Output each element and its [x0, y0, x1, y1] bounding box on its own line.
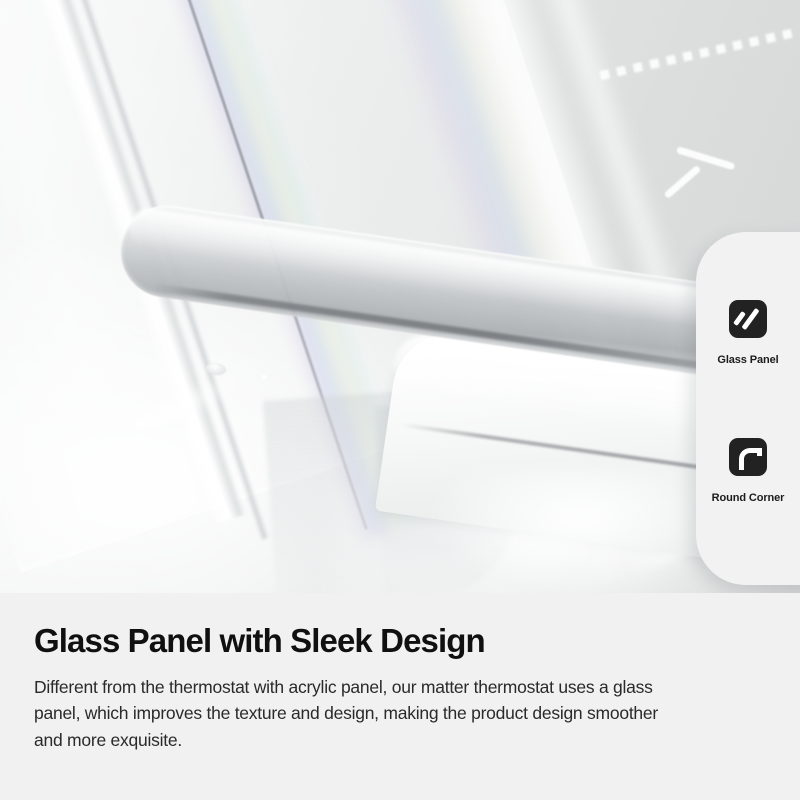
feature-label-glass-panel: Glass Panel: [717, 354, 778, 366]
glass-panel-icon: [729, 300, 767, 338]
feature-card: Glass Panel Round Corner: [696, 232, 800, 585]
product-feature-page: Glass Panel Round Corner Glass Panel wit…: [0, 0, 800, 800]
feature-item-round-corner[interactable]: Round Corner: [696, 438, 800, 504]
sensor-dot: [262, 375, 266, 379]
feature-label-round-corner: Round Corner: [712, 492, 785, 504]
round-corner-icon-bracket-extension: [757, 448, 762, 456]
round-corner-icon: [729, 438, 767, 476]
glass-panel-icon-slash-large: [741, 308, 759, 330]
description-paragraph: Different from the thermostat with acryl…: [34, 674, 674, 754]
page-title: Glass Panel with Sleek Design: [34, 624, 766, 659]
hero-product-photo: Glass Panel Round Corner: [0, 0, 800, 593]
feature-list: Glass Panel Round Corner: [696, 232, 800, 504]
description-section: Glass Panel with Sleek Design Different …: [0, 593, 800, 800]
body-panel-glow: [430, 470, 730, 590]
feature-item-glass-panel[interactable]: Glass Panel: [696, 300, 800, 366]
chevron-stroke-right: [676, 146, 735, 170]
chevron-mark: [655, 138, 733, 184]
